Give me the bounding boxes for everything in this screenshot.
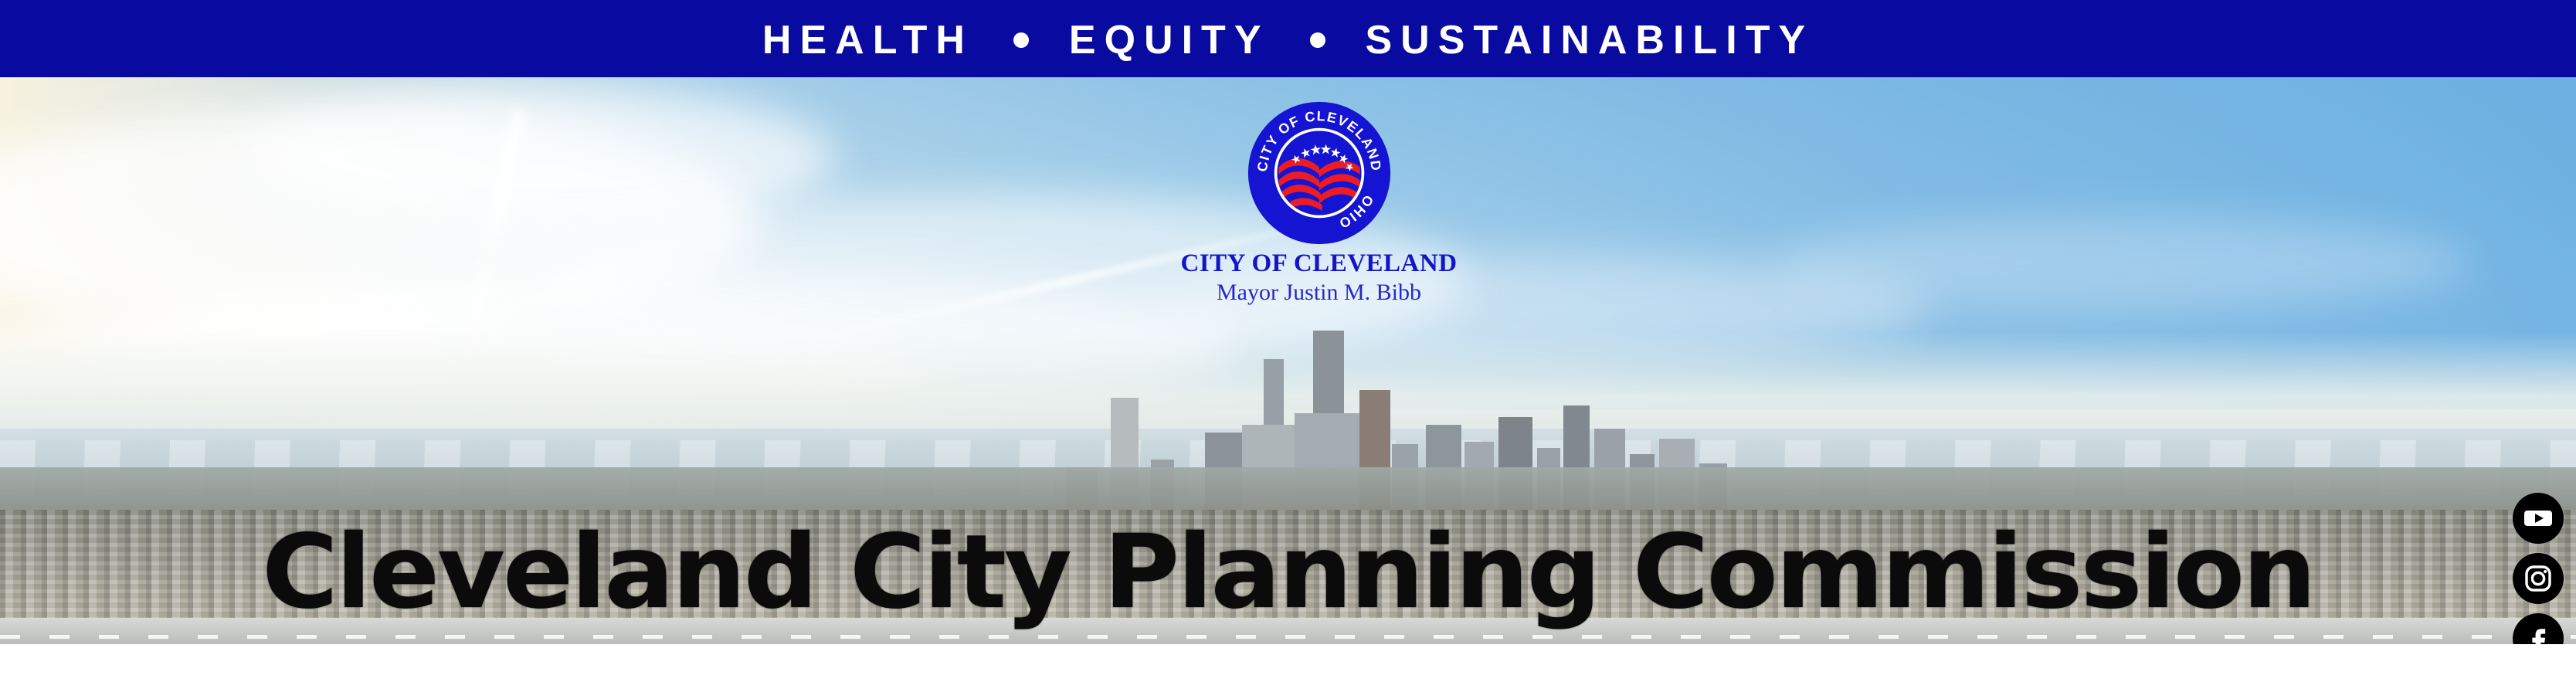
bottom-white-strip bbox=[0, 644, 2576, 682]
tagline-separator-dot-2 bbox=[1310, 32, 1325, 48]
city-name-label: CITY OF CLEVELAND bbox=[1180, 250, 1457, 277]
tagline-separator-dot-1 bbox=[1013, 32, 1029, 48]
facebook-icon[interactable] bbox=[2513, 613, 2564, 644]
tagline-word-equity: EQUITY bbox=[1069, 20, 1270, 60]
tagline-banner-inner: HEALTH EQUITY SUSTAINABILITY bbox=[762, 20, 1814, 60]
page-root: HEALTH EQUITY SUSTAINABILITY bbox=[0, 0, 2576, 682]
city-branding-block: CITY OF CLEVELAND OHIO CITY OF CLEVELAND… bbox=[0, 100, 2576, 304]
youtube-icon[interactable] bbox=[2513, 493, 2564, 544]
tagline-word-sustainability: SUSTAINABILITY bbox=[1366, 20, 1814, 60]
social-links bbox=[2513, 493, 2564, 644]
tagline-banner: HEALTH EQUITY SUSTAINABILITY bbox=[0, 0, 2576, 77]
city-of-cleveland-seal-icon: CITY OF CLEVELAND OHIO bbox=[1247, 100, 1392, 246]
hero-photo: CITY OF CLEVELAND OHIO CITY OF CLEVELAND… bbox=[0, 77, 2576, 644]
page-title: Cleveland City Planning Commission bbox=[0, 521, 2576, 623]
instagram-icon[interactable] bbox=[2513, 553, 2564, 604]
mayor-name-label: Mayor Justin M. Bibb bbox=[1217, 280, 1421, 305]
tagline-word-health: HEALTH bbox=[762, 20, 973, 60]
